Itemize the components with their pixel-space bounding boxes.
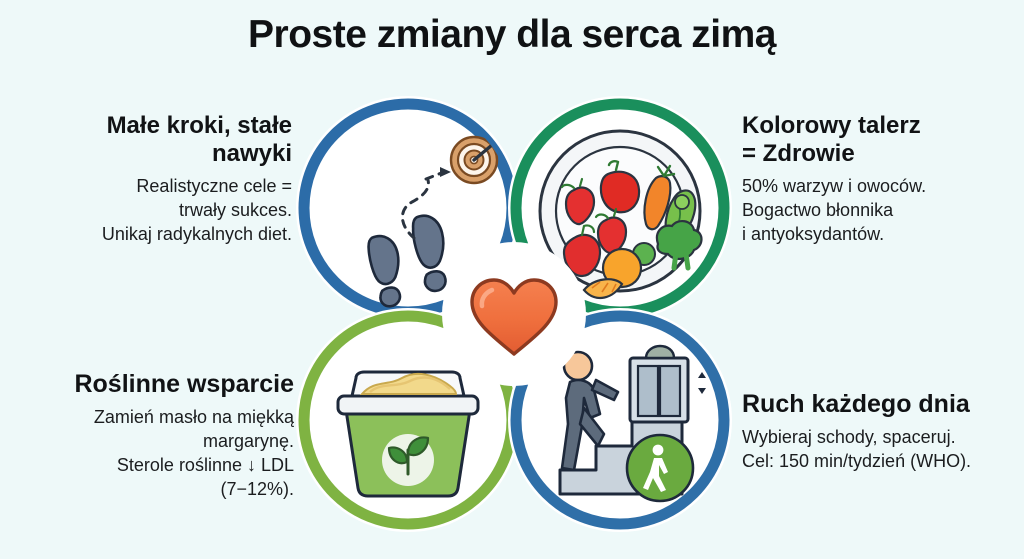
center-heart-node[interactable]: [442, 242, 586, 386]
page-title: Proste zmiany dla serca zimą: [0, 14, 1024, 57]
text-block-daily-movement: Ruch każdego dnia Wybieraj schody, space…: [742, 390, 1024, 474]
stairs-vs-elevator-icon: [560, 346, 706, 501]
text-block-colorful-plate: Kolorowy talerz = Zdrowie 50% warzyw i o…: [742, 112, 1022, 246]
heading-colorful-plate: Kolorowy talerz = Zdrowie: [742, 112, 1022, 168]
heading-daily-movement: Ruch każdego dnia: [742, 390, 1024, 419]
body-small-steps: Realistyczne cele = trwały sukces. Unika…: [20, 175, 292, 247]
body-colorful-plate: 50% warzyw i owoców. Bogactwo błonnika i…: [742, 175, 1022, 247]
body-daily-movement: Wybieraj schody, spaceruj. Cel: 150 min/…: [742, 426, 1024, 474]
heading-plant-support: Roślinne wsparcie: [12, 370, 294, 399]
infographic-canvas: Proste zmiany dla serca zimą: [0, 0, 1024, 559]
text-block-plant-support: Roślinne wsparcie Zamień masło na miękką…: [12, 370, 294, 502]
quad-circle-diagram: [278, 78, 750, 550]
heading-small-steps: Małe kroki, stałe nawyki: [20, 112, 292, 168]
text-block-small-steps: Małe kroki, stałe nawyki Realistyczne ce…: [20, 112, 292, 246]
body-plant-support: Zamień masło na miękką margarynę. Sterol…: [12, 406, 294, 502]
margarine-tub-icon: [338, 372, 478, 496]
